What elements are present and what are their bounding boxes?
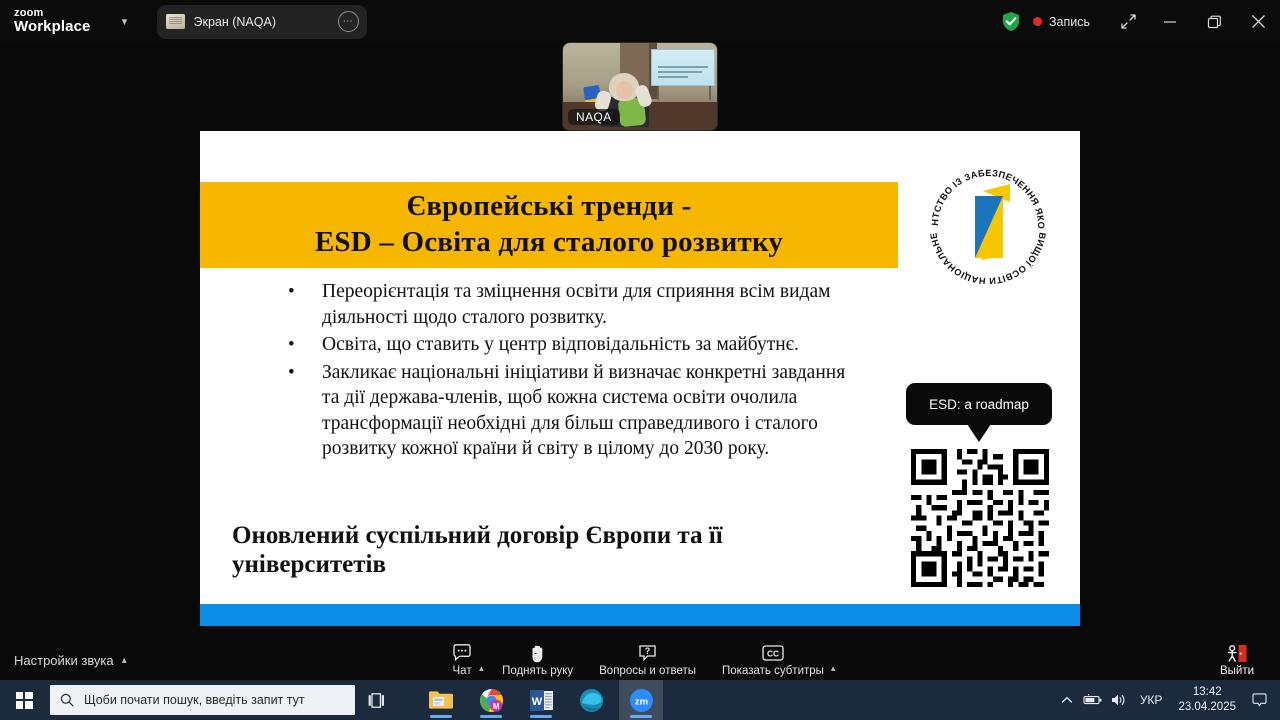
- leave-meeting-button[interactable]: Выйти: [1206, 640, 1268, 680]
- clock[interactable]: 13:42 23.04.2025: [1170, 685, 1244, 715]
- app-running-indicator: [430, 715, 452, 718]
- qa-icon: ?: [638, 644, 657, 663]
- shared-screen-tab[interactable]: Экран (NAQA) ⋯: [157, 5, 367, 39]
- naqa-logo: АГЕНТСТВО ІЗ ЗАБЕЗПЕЧЕННЯ ЯКОСТІ ВИЩОЇ О…: [918, 156, 1058, 284]
- bullet-text: Закликає національні ініціативи й визнач…: [322, 360, 866, 462]
- raise-hand-icon: [529, 644, 547, 663]
- raise-hand-label: Поднять руку: [502, 665, 573, 677]
- raise-hand-button[interactable]: Поднять руку: [489, 640, 586, 680]
- qa-label: Вопросы и ответы: [599, 665, 696, 677]
- self-view-participant-name: NAQA: [568, 109, 620, 125]
- windows-logo-icon: [16, 692, 33, 709]
- captions-options-caret[interactable]: ▴: [837, 640, 841, 680]
- screen-thumbnail-icon: [166, 14, 185, 29]
- recording-dot-icon: [1033, 17, 1042, 26]
- qa-button[interactable]: ? Вопросы и ответы: [586, 640, 709, 680]
- window-controls-group: Запись: [1001, 0, 1280, 43]
- bullet-text: Освіта, що ставить у центр відповідальні…: [322, 332, 866, 358]
- taskbar-app-list: M W: [419, 680, 663, 720]
- app-running-indicator: [480, 715, 502, 718]
- show-captions-label: Показать субтитры: [722, 665, 824, 677]
- taskbar-app-edge[interactable]: [569, 680, 613, 720]
- list-item: Освіта, що ставить у центр відповідальні…: [274, 332, 866, 358]
- start-button[interactable]: [0, 680, 48, 720]
- zoom-brand-line2: Workplace: [14, 19, 91, 35]
- maximize-restore-button[interactable]: [1192, 0, 1236, 43]
- list-item: Переорієнтація та зміцнення освіти для с…: [274, 279, 866, 330]
- screen-root: zoom Workplace ▾ Экран (NAQA) ⋯ Запись: [0, 0, 1280, 720]
- security-shield-icon[interactable]: [1001, 11, 1021, 32]
- leave-label: Выйти: [1220, 665, 1254, 677]
- chat-label: Чат: [453, 665, 472, 677]
- show-captions-button[interactable]: CC Показать субтитры: [709, 640, 837, 680]
- video-screen-leg: [657, 86, 659, 100]
- svg-text:zm: zm: [634, 696, 647, 707]
- taskbar-app-file-explorer[interactable]: [419, 680, 463, 720]
- battery-icon[interactable]: [1080, 680, 1106, 720]
- close-button[interactable]: [1236, 0, 1280, 43]
- recording-label: Запись: [1049, 15, 1090, 29]
- self-view-video-thumbnail[interactable]: NAQA: [563, 43, 717, 130]
- slide-title-band: Європейські тренди - ESD – Освіта для ст…: [200, 182, 898, 268]
- slide-title-line2: ESD – Освіта для сталого розвитку: [315, 225, 783, 261]
- svg-text:CC: CC: [767, 648, 779, 658]
- enter-fullscreen-icon[interactable]: [1108, 0, 1148, 43]
- taskbar-app-zoom[interactable]: zm: [619, 680, 663, 720]
- qr-callout-bubble: ESD: a roadmap: [906, 383, 1052, 425]
- app-running-indicator: [630, 715, 652, 718]
- slide-subheading: Оновлений суспільний договір Європи та ї…: [232, 521, 872, 579]
- qr-code[interactable]: [906, 444, 1054, 592]
- svg-text:M: M: [492, 702, 499, 711]
- zoom-title-bar: zoom Workplace ▾ Экран (NAQA) ⋯ Запись: [0, 0, 1280, 43]
- svg-text:W: W: [531, 696, 542, 708]
- search-icon: [60, 693, 74, 707]
- taskbar-app-chrome[interactable]: M: [469, 680, 513, 720]
- search-input[interactable]: Щоби почати пошук, введіть запит тут: [50, 685, 355, 715]
- search-placeholder: Щоби почати пошук, введіть запит тут: [84, 693, 305, 707]
- app-running-indicator: [530, 715, 552, 718]
- show-hidden-icons-chevron-up-icon[interactable]: [1054, 680, 1080, 720]
- language-indicator[interactable]: УКР: [1132, 693, 1171, 707]
- slide-title: Європейські тренди - ESD – Освіта для ст…: [315, 189, 783, 260]
- slide-bullet-list: Переорієнтація та зміцнення освіти для с…: [274, 279, 866, 464]
- toolbar-center-group: Чат ▴ Поднять руку ?: [0, 640, 1280, 680]
- notifications-icon[interactable]: [1244, 680, 1274, 720]
- zoom-meeting-toolbar: Настройки звука ▴ Чат ▴: [0, 640, 1280, 680]
- leave-door-icon: [1226, 644, 1248, 663]
- list-item: Закликає національні ініціативи й визнач…: [274, 360, 866, 462]
- zoom-brand: zoom Workplace: [14, 8, 91, 35]
- recording-indicator[interactable]: Запись: [1033, 15, 1090, 29]
- shared-screen-tab-label: Экран (NAQA): [194, 15, 276, 29]
- minimize-button[interactable]: [1148, 0, 1192, 43]
- more-options-icon[interactable]: ⋯: [338, 11, 359, 32]
- volume-icon[interactable]: [1106, 680, 1132, 720]
- clock-time: 13:42: [1193, 685, 1222, 700]
- chat-button[interactable]: Чат: [439, 640, 485, 680]
- video-projection-screen: [651, 49, 715, 86]
- system-tray: УКР 13:42 23.04.2025: [1054, 680, 1280, 720]
- bullet-text: Переорієнтація та зміцнення освіти для с…: [322, 279, 866, 330]
- slide-footer-bar: [200, 604, 1080, 626]
- clock-date: 23.04.2025: [1178, 700, 1236, 715]
- qr-callout-label: ESD: a roadmap: [929, 397, 1029, 412]
- chat-icon: [452, 644, 472, 663]
- video-speaker-face: [616, 81, 633, 99]
- svg-text:?: ?: [645, 646, 651, 656]
- closed-captions-icon: CC: [762, 644, 784, 663]
- task-view-button[interactable]: [355, 680, 397, 720]
- windows-taskbar: Щоби почати пошук, введіть запит тут: [0, 680, 1280, 720]
- taskbar-app-word[interactable]: W: [519, 680, 563, 720]
- slide-title-line1: Європейські тренди -: [406, 190, 691, 222]
- chevron-down-icon[interactable]: ▾: [115, 15, 135, 28]
- video-screen-leg: [709, 86, 711, 100]
- shared-slide: Європейські тренди - ESD – Освіта для ст…: [200, 131, 1080, 626]
